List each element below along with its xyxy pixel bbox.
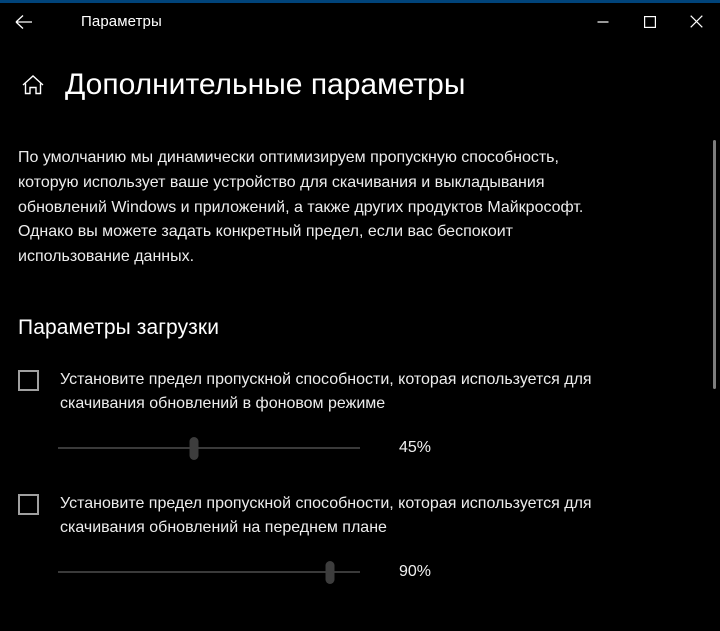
checkbox-row-foreground-limit[interactable]: Установите предел пропускной способности… — [18, 492, 618, 541]
window-controls — [579, 3, 720, 40]
slider-value-background-limit: 45% — [399, 439, 431, 457]
checkbox-label-foreground-limit: Установите предел пропускной способности… — [60, 492, 618, 541]
slider-row-background-limit: 45% — [58, 432, 618, 464]
page-header: Дополнительные параметры — [18, 68, 465, 102]
checkbox-background-limit[interactable] — [18, 370, 39, 391]
slider-thumb[interactable] — [189, 437, 198, 460]
window-title: Параметры — [81, 13, 162, 30]
back-button[interactable] — [0, 3, 46, 40]
slider-background-limit[interactable] — [58, 432, 360, 464]
close-button[interactable] — [673, 3, 720, 40]
arrow-left-icon — [12, 11, 34, 33]
main-content: По умолчанию мы динамически оптимизируем… — [18, 146, 618, 588]
close-icon — [690, 15, 703, 28]
checkbox-row-background-limit[interactable]: Установите предел пропускной способности… — [18, 368, 618, 417]
section-heading-download-settings: Параметры загрузки — [18, 316, 618, 340]
slider-track[interactable] — [58, 447, 360, 449]
minimize-icon — [597, 16, 609, 28]
home-button[interactable] — [18, 70, 48, 100]
maximize-button[interactable] — [626, 3, 673, 40]
slider-thumb[interactable] — [325, 561, 334, 584]
titlebar: Параметры — [0, 3, 720, 40]
intro-paragraph: По умолчанию мы динамически оптимизируем… — [18, 146, 593, 270]
setting-block-foreground-download: Установите предел пропускной способности… — [18, 492, 618, 588]
scrollbar-thumb[interactable] — [713, 140, 716, 388]
slider-value-foreground-limit: 90% — [399, 563, 431, 581]
setting-block-background-download: Установите предел пропускной способности… — [18, 368, 618, 464]
page-title: Дополнительные параметры — [65, 68, 465, 102]
slider-row-foreground-limit: 90% — [58, 556, 618, 588]
scrollbar[interactable] — [706, 40, 720, 631]
maximize-icon — [644, 16, 656, 28]
slider-track[interactable] — [58, 571, 360, 573]
checkbox-foreground-limit[interactable] — [18, 494, 39, 515]
home-icon — [20, 72, 46, 98]
slider-foreground-limit[interactable] — [58, 556, 360, 588]
checkbox-label-background-limit: Установите предел пропускной способности… — [60, 368, 618, 417]
minimize-button[interactable] — [579, 3, 626, 40]
